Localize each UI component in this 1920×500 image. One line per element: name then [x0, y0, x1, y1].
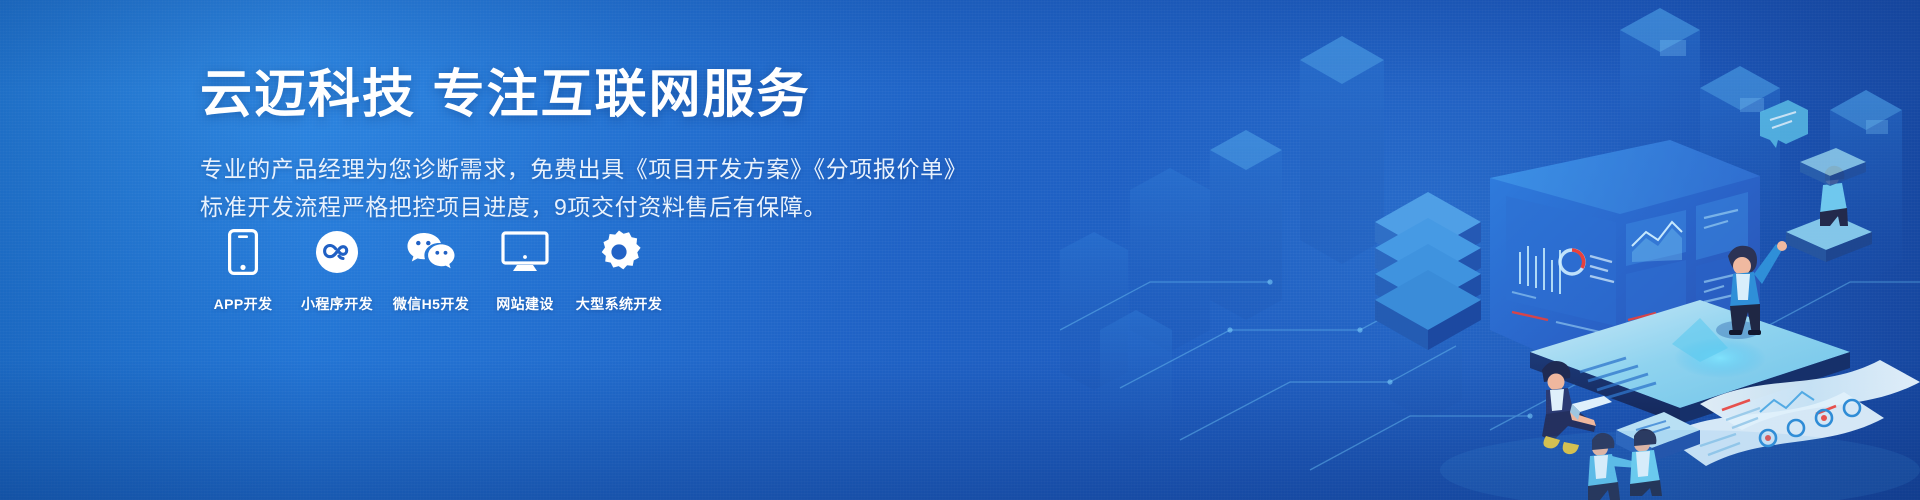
banner-subtitle-line-1: 专业的产品经理为您诊断需求，免费出具《项目开发方案》《分项报价单》 [200, 150, 960, 188]
seated-person-with-laptop [1542, 361, 1612, 454]
wechat-icon [406, 228, 456, 276]
background-glow-right [980, 0, 1880, 500]
mobile-phone-icon [228, 228, 258, 276]
data-chart-ribbon [1664, 360, 1920, 466]
service-label-wechat-h5: 微信H5开发 [393, 294, 469, 314]
mini-program-icon [315, 228, 359, 276]
banner-copy: 云迈科技 专注互联网服务 专业的产品经理为您诊断需求，免费出具《项目开发方案》《… [200, 66, 960, 226]
service-label-app: APP开发 [214, 294, 273, 314]
isometric-illustration [1060, 0, 1920, 500]
hero-banner: 云迈科技 专注互联网服务 专业的产品经理为您诊断需求，免费出具《项目开发方案》《… [0, 0, 1920, 500]
service-label-mini-program: 小程序开发 [301, 294, 373, 314]
dashboard-screen [1490, 140, 1760, 388]
chat-bubble [1760, 100, 1808, 148]
server-stack [1375, 192, 1481, 350]
service-label-large-system: 大型系统开发 [576, 294, 662, 314]
city-buildings [1060, 8, 1902, 460]
two-people-walking [1588, 429, 1662, 500]
standing-person [1716, 241, 1787, 339]
service-item-wechat-h5[interactable]: 微信H5开发 [388, 228, 474, 314]
monitor-icon [501, 228, 549, 276]
tablet-platform [1530, 300, 1850, 424]
service-item-website[interactable]: 网站建设 [482, 228, 568, 314]
service-item-mini-program[interactable]: 小程序开发 [294, 228, 380, 314]
gear-icon [596, 228, 642, 276]
service-label-website: 网站建设 [496, 294, 554, 314]
service-item-app[interactable]: APP开发 [200, 228, 286, 314]
side-platforms [1786, 148, 1872, 262]
banner-headline: 云迈科技 专注互联网服务 [200, 66, 960, 124]
banner-subtitle-line-2: 标准开发流程严格把控项目进度，9项交付资料售后有保障。 [200, 188, 960, 226]
service-item-large-system[interactable]: 大型系统开发 [576, 228, 662, 314]
floating-card [1616, 412, 1700, 462]
service-icon-list: APP开发 小程序开发 [200, 228, 662, 314]
side-person [1820, 166, 1848, 226]
circuit-lines [1060, 282, 1920, 470]
